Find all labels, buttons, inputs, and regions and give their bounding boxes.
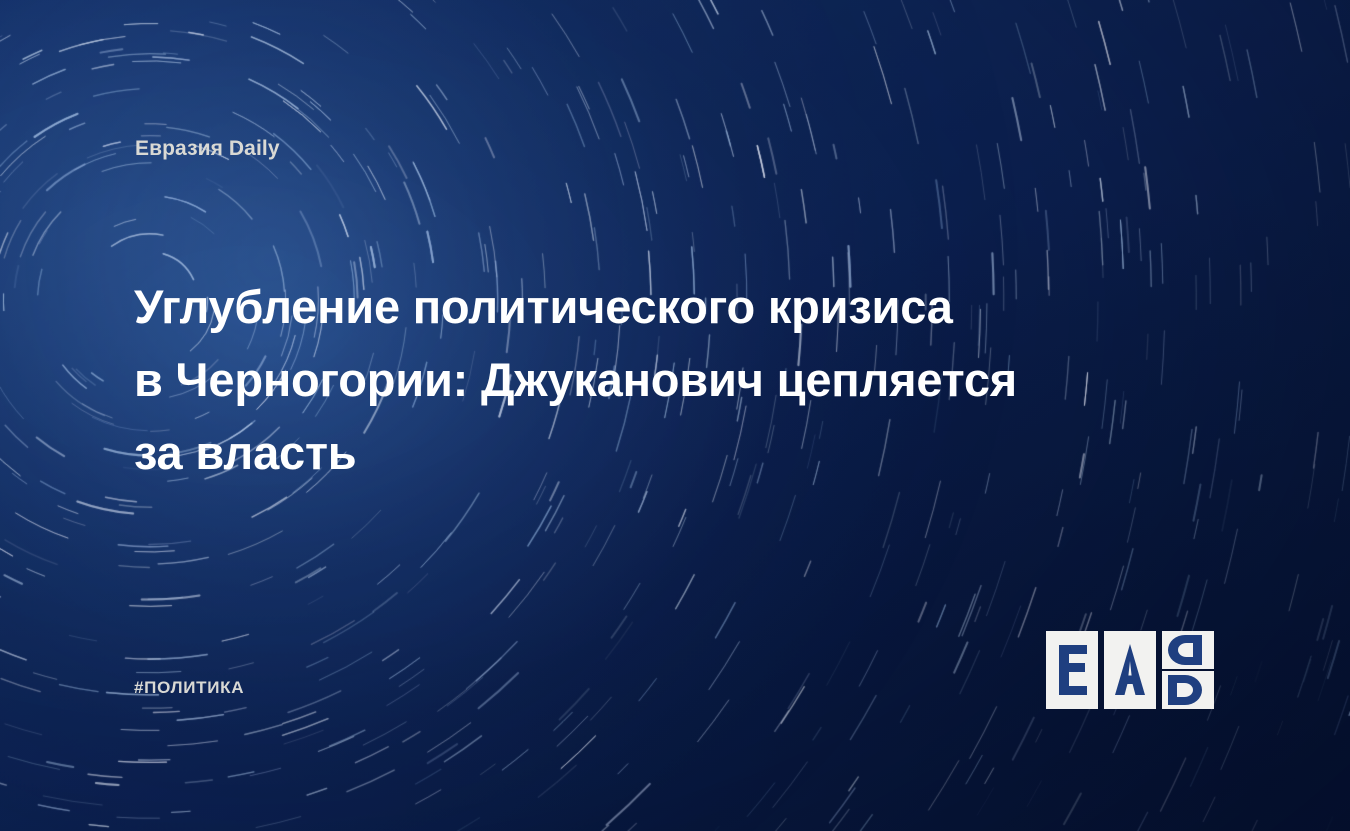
headline-line: Углубление политического кризиса <box>134 270 1174 343</box>
card-content: Евразия Daily Углубление политического к… <box>0 0 1350 831</box>
logo-tile-a <box>1104 631 1156 709</box>
headline-line: за власть <box>134 416 1174 489</box>
publisher-name: Евразия Daily <box>135 137 280 161</box>
logo-tile-d <box>1162 631 1214 709</box>
category-hashtag[interactable]: #ПОЛИТИКА <box>134 678 244 698</box>
headline-line: в Черногории: Джуканович цепляется <box>134 343 1174 416</box>
share-card: Евразия Daily Углубление политического к… <box>0 0 1350 831</box>
eadaily-logo[interactable] <box>1046 631 1224 709</box>
logo-tile-e <box>1046 631 1098 709</box>
page-title: Углубление политического кризиса в Черно… <box>134 270 1174 489</box>
